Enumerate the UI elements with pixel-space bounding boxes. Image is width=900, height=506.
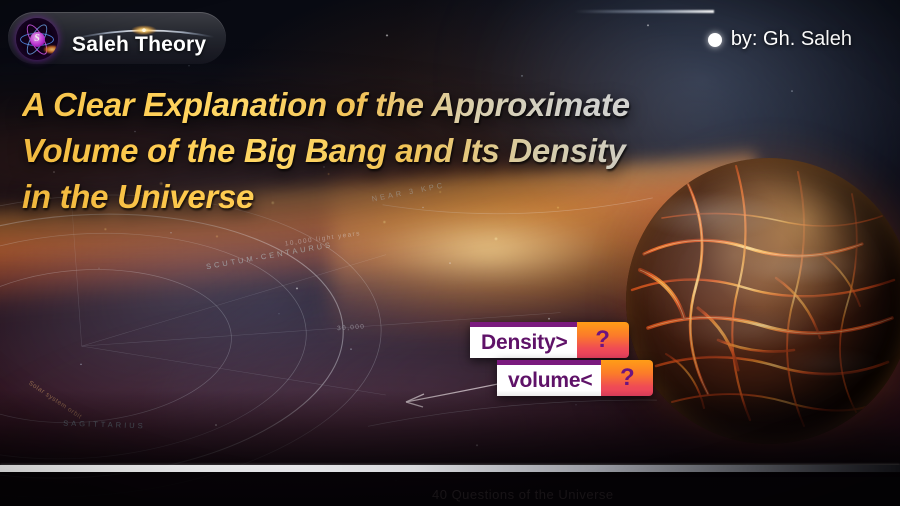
density-label-box: Density>: [470, 322, 577, 358]
brand-logo[interactable]: S Saleh Theory: [8, 12, 226, 64]
brand-name: Saleh Theory: [72, 33, 206, 57]
byline-light-streak: [574, 10, 714, 13]
title-line-2: Volume of the Big Bang and Its Density: [22, 128, 752, 174]
density-value-box: ?: [577, 322, 629, 358]
byline-text: by: Gh. Saleh: [731, 28, 852, 51]
byline: by: Gh. Saleh: [708, 28, 852, 51]
volume-label-text: volume<: [508, 370, 592, 391]
logo-flare-icon: [43, 45, 56, 54]
volume-value-text: ?: [620, 366, 635, 390]
footer-ghost-text: 40 Questions of the Universe: [432, 487, 614, 502]
density-value-text: ?: [595, 328, 610, 352]
density-label-chip[interactable]: Density> ?: [470, 322, 629, 358]
page-title: A Clear Explanation of the Approximate V…: [22, 82, 752, 221]
density-label-text: Density>: [481, 332, 568, 353]
slide-canvas: SCUTUM-CENTAURUS SAGITTARIUS NEAR 3 KPC …: [0, 0, 900, 506]
title-line-1: A Clear Explanation of the Approximate: [22, 82, 752, 128]
bullet-dot-icon: [708, 33, 722, 47]
bottom-divider-bar: [0, 465, 900, 472]
atom-orbit-logo-icon: S: [16, 18, 58, 60]
title-line-3: in the Universe: [22, 174, 752, 220]
